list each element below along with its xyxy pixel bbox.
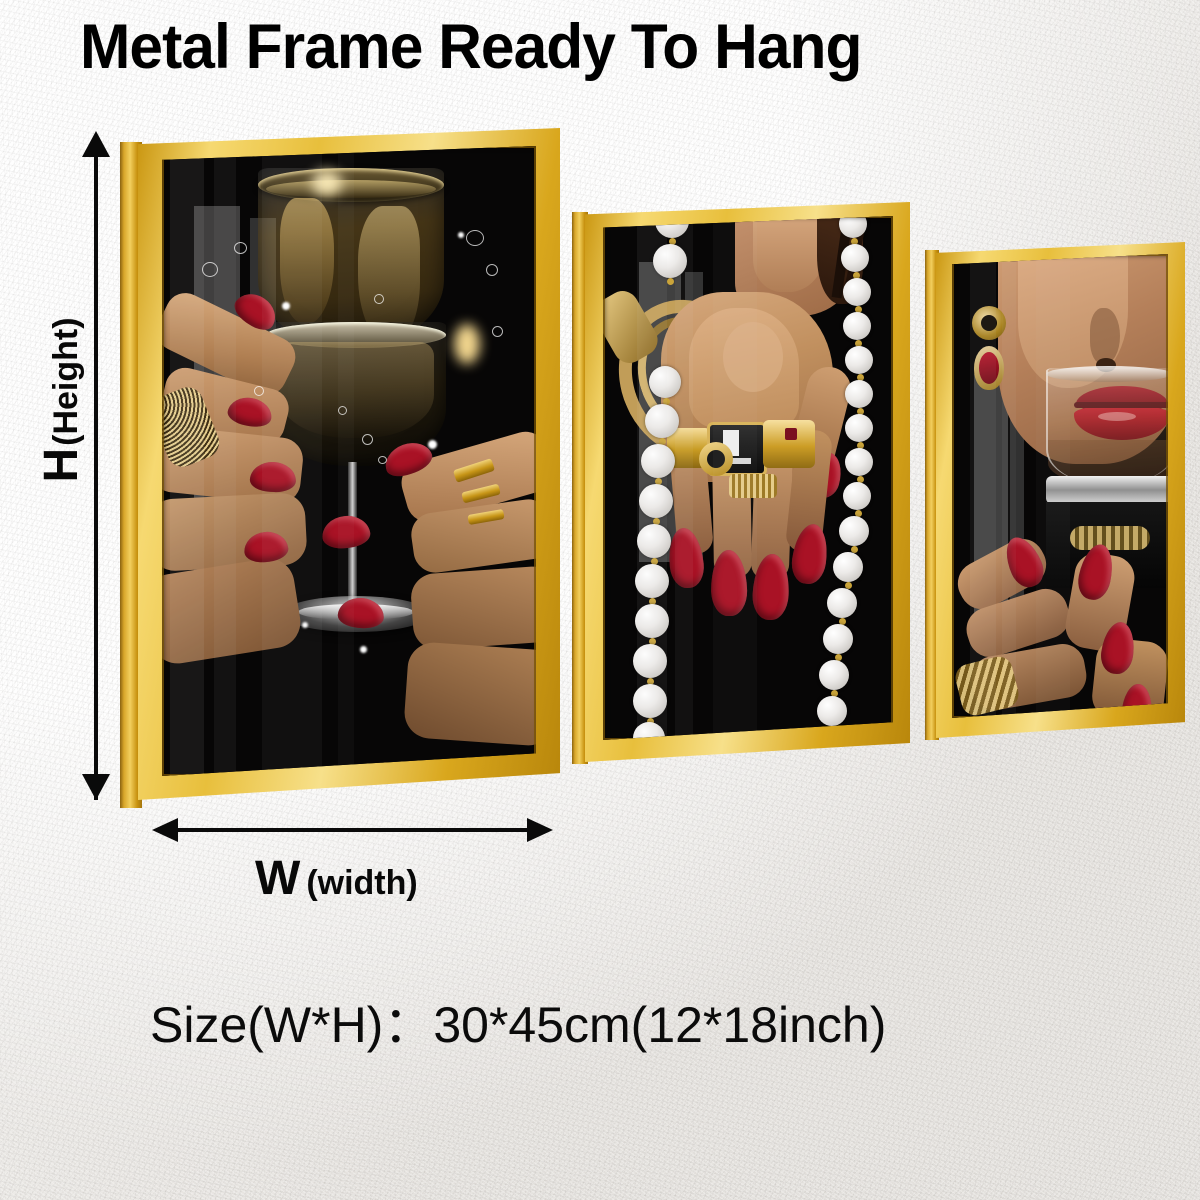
width-arrow-right [527,818,553,842]
framed-art-panel-1 [120,128,560,808]
width-symbol: W [255,855,300,903]
artwork-matte-2 [603,216,893,740]
page-title: Metal Frame Ready To Hang [80,16,1069,79]
artwork-matte-1 [162,146,536,776]
width-word: (width) [306,866,417,900]
artwork-image-3 [952,254,1168,718]
product-image-canvas: Metal Frame Ready To Hang [0,0,1200,1200]
artwork-image-2 [603,216,893,740]
size-caption: Size(W*H)：30*45cm(12*18inch) [150,1000,1090,1050]
height-word: (Height) [49,317,83,445]
framed-art-panel-3 [925,242,1185,744]
height-symbol: H [38,448,86,483]
width-dimension-line [160,828,544,832]
artwork-image-1 [162,146,536,776]
framed-art-panel-2 [572,202,910,768]
artwork-matte-3 [952,254,1168,718]
width-label: W (width) [255,855,555,903]
height-label: H (Height) [38,310,98,490]
height-arrow-down [82,774,110,800]
